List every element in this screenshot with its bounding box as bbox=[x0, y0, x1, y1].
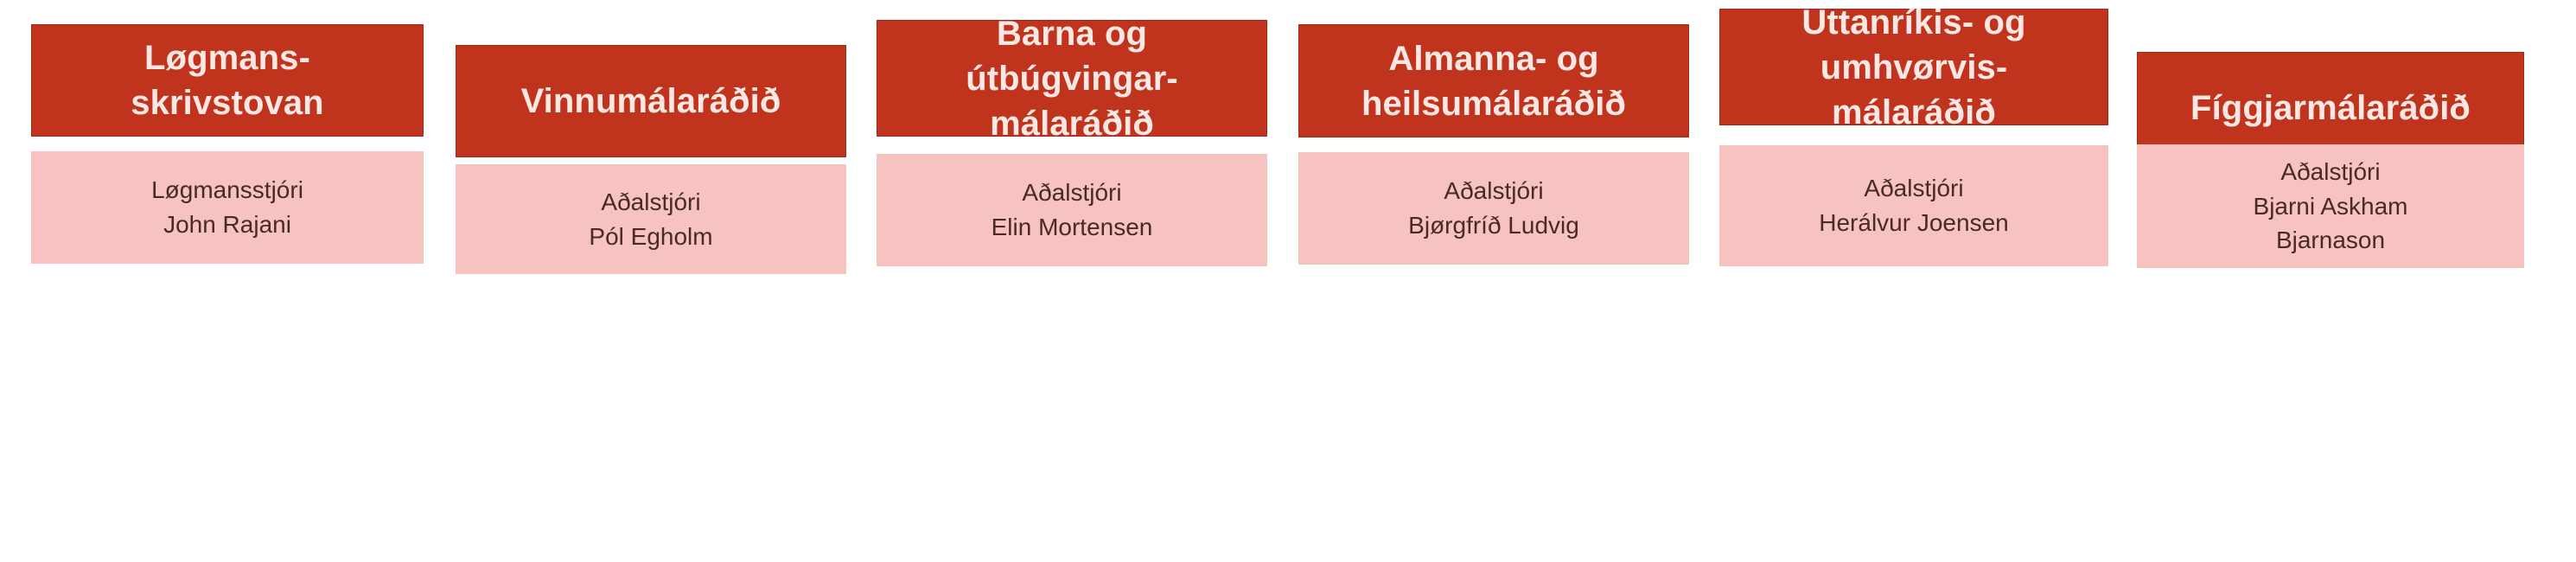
ministry-label: Løgmans- skrivstovan bbox=[131, 35, 323, 125]
director-label: Aðalstjóri Bjørgfríð Ludvig bbox=[1408, 174, 1579, 243]
director-label: Aðalstjóri Bjarni Askham Bjarnason bbox=[2254, 155, 2408, 258]
director-label: Aðalstjóri Elin Mortensen bbox=[992, 176, 1153, 245]
ministry-label: Uttanríkis- og umhvørvis- málaráðið bbox=[1801, 0, 2025, 135]
director-label: Løgmansstjóri John Rajani bbox=[151, 173, 303, 242]
ministry-label: Barna og útbúgvingar- málaráðið bbox=[966, 11, 1178, 146]
director-label: Aðalstjóri Pól Egholm bbox=[589, 185, 712, 254]
org-column-5: Uttanríkis- og umhvørvis- málaráðið Aðal… bbox=[1719, 0, 2108, 562]
org-column-2: Vinnumálaráðið Aðalstjóri Pól Egholm bbox=[456, 0, 846, 562]
org-chart: Løgmans- skrivstovan Løgmansstjóri John … bbox=[0, 0, 2576, 562]
ministry-box-logmansskrivstovan[interactable]: Løgmans- skrivstovan bbox=[31, 24, 424, 137]
director-box-uttanrikis-og-umhvorvismalaradid[interactable]: Aðalstjóri Herálvur Joensen bbox=[1719, 145, 2108, 266]
director-box-logmansskrivstovan[interactable]: Løgmansstjóri John Rajani bbox=[31, 151, 424, 264]
ministry-label: Vinnumálaráðið bbox=[521, 79, 781, 124]
ministry-label: Fíggjarmálaráðið bbox=[2190, 86, 2471, 131]
director-label: Aðalstjóri Herálvur Joensen bbox=[1819, 171, 2008, 240]
director-box-figgjarmalaradid[interactable]: Aðalstjóri Bjarni Askham Bjarnason bbox=[2137, 144, 2524, 268]
director-box-barna-og-utbugvingarmalaradid[interactable]: Aðalstjóri Elin Mortensen bbox=[877, 154, 1267, 266]
org-column-4: Almanna- og heilsumálaráðið Aðalstjóri B… bbox=[1298, 0, 1689, 562]
ministry-label: Almanna- og heilsumálaráðið bbox=[1361, 36, 1626, 126]
ministry-box-vinnumalaradid[interactable]: Vinnumálaráðið bbox=[456, 45, 846, 157]
org-column-6: Fíggjarmálaráðið Aðalstjóri Bjarni Askha… bbox=[2137, 0, 2524, 562]
ministry-box-barna-og-utbugvingarmalaradid[interactable]: Barna og útbúgvingar- málaráðið bbox=[877, 20, 1267, 137]
director-box-almanna-og-heilsumalaradid[interactable]: Aðalstjóri Bjørgfríð Ludvig bbox=[1298, 152, 1689, 265]
ministry-box-uttanrikis-og-umhvorvismalaradid[interactable]: Uttanríkis- og umhvørvis- málaráðið bbox=[1719, 9, 2108, 125]
ministry-box-almanna-og-heilsumalaradid[interactable]: Almanna- og heilsumálaráðið bbox=[1298, 24, 1689, 137]
org-column-1: Løgmans- skrivstovan Løgmansstjóri John … bbox=[31, 0, 424, 562]
director-box-vinnumalaradid[interactable]: Aðalstjóri Pól Egholm bbox=[456, 164, 846, 274]
org-column-3: Barna og útbúgvingar- málaráðið Aðalstjó… bbox=[877, 0, 1267, 562]
